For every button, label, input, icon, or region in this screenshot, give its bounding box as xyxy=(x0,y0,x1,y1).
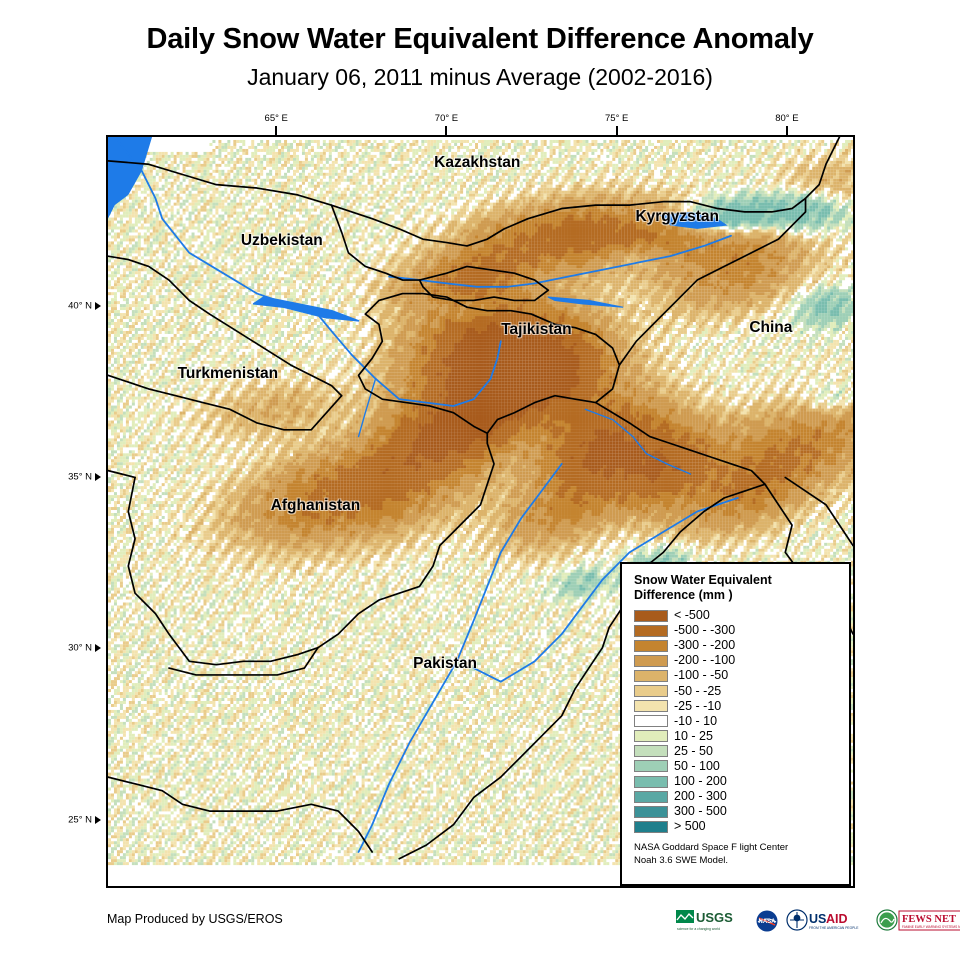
footer-credit: Map Produced by USGS/EROS xyxy=(107,912,283,926)
axis-tick-mark-x xyxy=(445,126,447,135)
legend-color-swatch xyxy=(634,821,668,833)
legend-label: -100 - -50 xyxy=(674,669,728,682)
title-block: Daily Snow Water Equivalent Difference A… xyxy=(0,22,960,92)
axis-tick-label-y: 25° N xyxy=(46,814,92,825)
legend-title: Snow Water Equivalent Difference (mm ) xyxy=(634,573,839,603)
legend-row: -25 - -10 xyxy=(634,699,839,714)
legend-row: 100 - 200 xyxy=(634,774,839,789)
axis-tick-label-y: 40° N xyxy=(46,301,92,312)
legend-label: -50 - -25 xyxy=(674,685,721,698)
logo-bar: USGS science for a changing world NASA U… xyxy=(676,908,960,934)
legend-color-swatch xyxy=(634,625,668,637)
legend-row: -10 - 10 xyxy=(634,714,839,729)
legend-row: 200 - 300 xyxy=(634,789,839,804)
usaid-logo: US AID FROM THE AMERICAN PEOPLE xyxy=(786,909,870,933)
legend-color-swatch xyxy=(634,745,668,757)
legend-label: -300 - -200 xyxy=(674,639,735,652)
legend-color-swatch xyxy=(634,715,668,727)
axis-tick-mark-y xyxy=(95,473,101,481)
axis-tick-mark-y xyxy=(95,816,101,824)
legend-label: 100 - 200 xyxy=(674,775,727,788)
axis-tick-label-y: 30° N xyxy=(46,643,92,654)
axis-tick-mark-x xyxy=(616,126,618,135)
legend-source-note: NASA Goddard Space F light Center Noah 3… xyxy=(634,842,839,867)
legend-label: -500 - -300 xyxy=(674,624,735,637)
legend-color-swatch xyxy=(634,791,668,803)
legend-label: 200 - 300 xyxy=(674,790,727,803)
legend-color-swatch xyxy=(634,806,668,818)
legend-color-swatch xyxy=(634,640,668,652)
fewsnet-logo: FEWS NET FAMINE EARLY WARNING SYSTEMS NE… xyxy=(876,909,960,933)
usgs-logo: USGS science for a changing world xyxy=(676,909,748,933)
page-subtitle: January 06, 2011 minus Average (2002-201… xyxy=(0,62,960,92)
legend-row: 25 - 50 xyxy=(634,744,839,759)
legend-items: < -500-500 - -300-300 - -200-200 - -100-… xyxy=(634,608,839,834)
legend-color-swatch xyxy=(634,685,668,697)
axis-tick-label-x: 80° E xyxy=(775,113,798,124)
legend-row: 300 - 500 xyxy=(634,804,839,819)
legend-row: -500 - -300 xyxy=(634,623,839,638)
legend-row: -50 - -25 xyxy=(634,683,839,698)
legend-label: -25 - -10 xyxy=(674,700,721,713)
legend-row: < -500 xyxy=(634,608,839,623)
legend-label: > 500 xyxy=(674,820,706,833)
legend-color-swatch xyxy=(634,730,668,742)
axis-tick-mark-y xyxy=(95,302,101,310)
legend-row: -200 - -100 xyxy=(634,653,839,668)
legend-label: < -500 xyxy=(674,609,710,622)
legend-row: 50 - 100 xyxy=(634,759,839,774)
legend-color-swatch xyxy=(634,700,668,712)
nasa-logo: NASA xyxy=(754,909,780,933)
legend-box: Snow Water Equivalent Difference (mm ) <… xyxy=(620,562,851,886)
legend-label: 10 - 25 xyxy=(674,730,713,743)
legend-label: 300 - 500 xyxy=(674,805,727,818)
axis-tick-mark-x xyxy=(275,126,277,135)
legend-row: 10 - 25 xyxy=(634,729,839,744)
page-title: Daily Snow Water Equivalent Difference A… xyxy=(0,22,960,56)
legend-row: -300 - -200 xyxy=(634,638,839,653)
legend-label: 50 - 100 xyxy=(674,760,720,773)
legend-label: -10 - 10 xyxy=(674,715,717,728)
legend-row: -100 - -50 xyxy=(634,668,839,683)
axis-tick-label-x: 75° E xyxy=(605,113,628,124)
legend-row: > 500 xyxy=(634,819,839,834)
legend-color-swatch xyxy=(634,670,668,682)
legend-color-swatch xyxy=(634,760,668,772)
legend-label: -200 - -100 xyxy=(674,654,735,667)
legend-label: 25 - 50 xyxy=(674,745,713,758)
axis-tick-mark-y xyxy=(95,644,101,652)
legend-color-swatch xyxy=(634,655,668,667)
axis-tick-label-x: 70° E xyxy=(435,113,458,124)
axis-tick-label-x: 65° E xyxy=(265,113,288,124)
axis-tick-label-y: 35° N xyxy=(46,472,92,483)
legend-color-swatch xyxy=(634,610,668,622)
legend-color-swatch xyxy=(634,776,668,788)
axis-tick-mark-x xyxy=(786,126,788,135)
